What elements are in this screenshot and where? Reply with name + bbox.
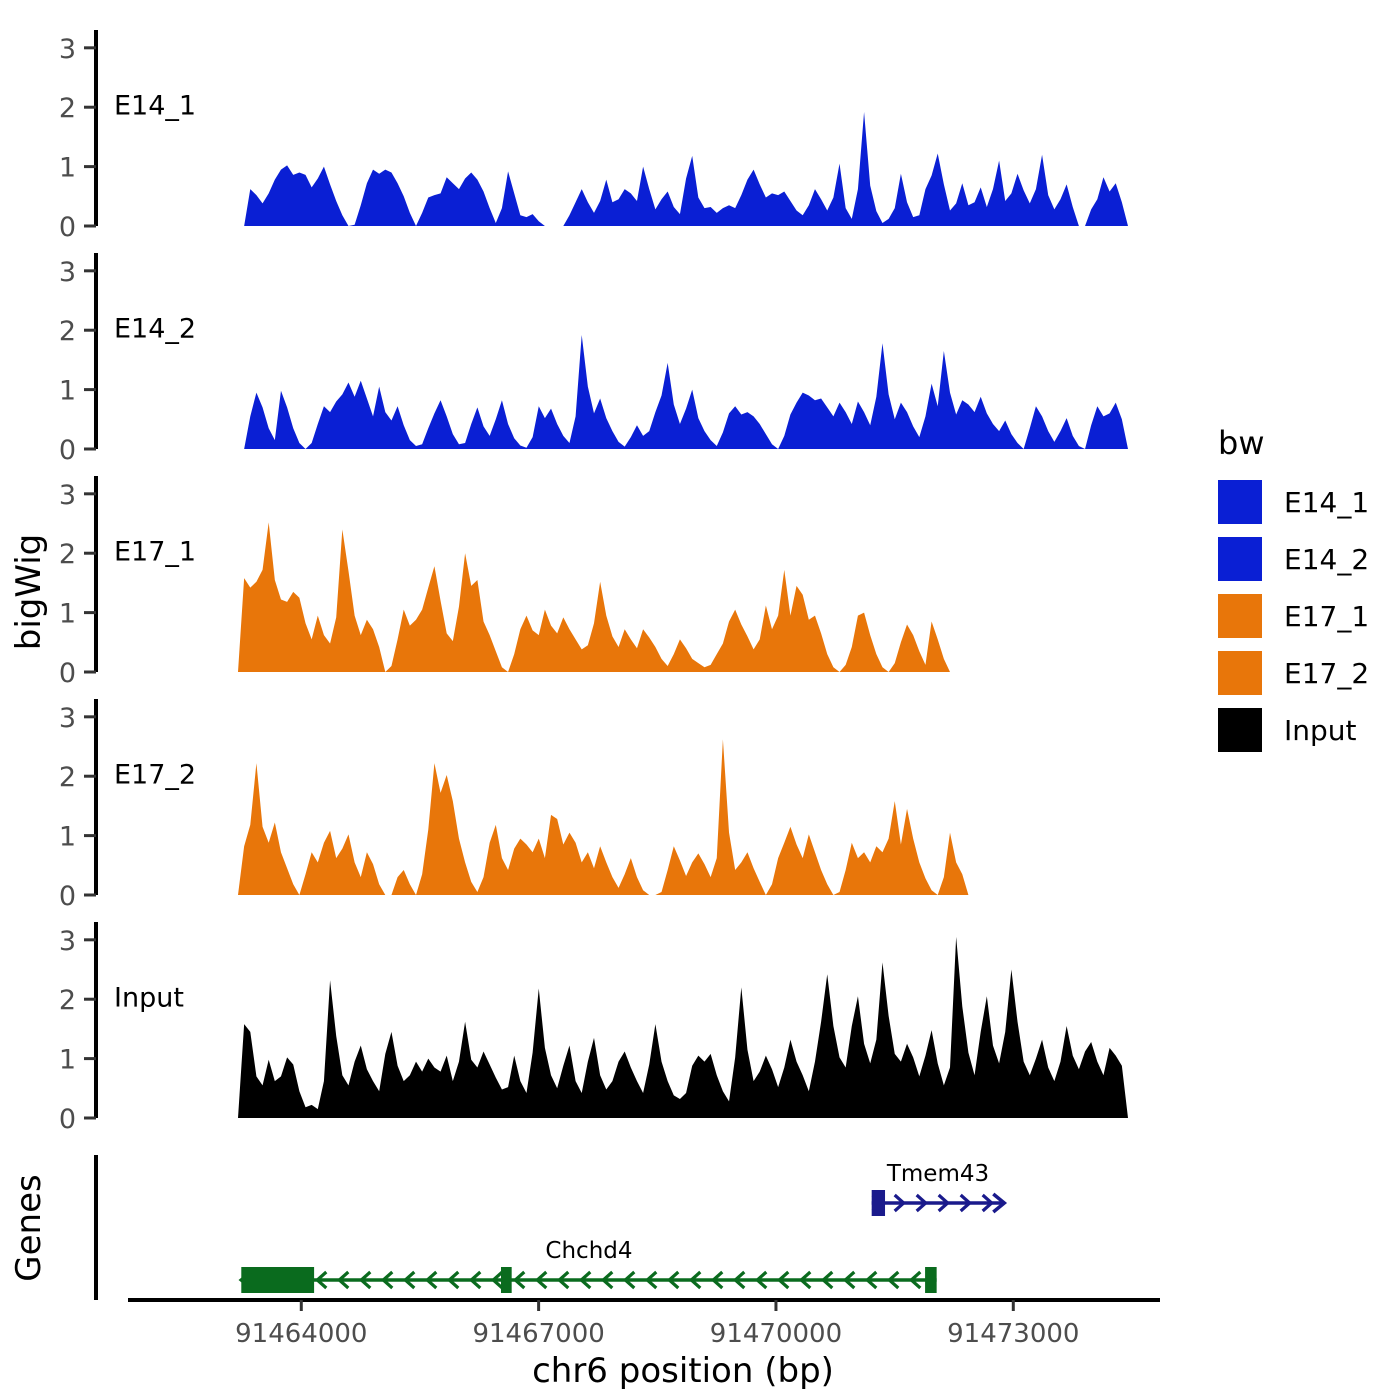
y-tick-label: 2 [59, 539, 76, 570]
y-tick-label: 0 [59, 881, 76, 912]
y-tick-label: 0 [59, 1104, 76, 1135]
y-tick-label: 1 [59, 599, 76, 630]
y-tick-label: 3 [59, 703, 76, 734]
exon-block [872, 1190, 885, 1216]
genes-axis-title: Genes [9, 1174, 49, 1281]
y-tick-label: 1 [59, 376, 76, 407]
track-label-e14_2: E14_2 [114, 313, 196, 344]
legend-swatch [1218, 708, 1262, 752]
y-tick-label: 0 [59, 435, 76, 466]
y-tick-label: 3 [59, 926, 76, 957]
exon-block [501, 1267, 512, 1293]
track-label-input: Input [114, 982, 184, 1013]
legend-item-e17_2[interactable]: E17_2 [1218, 651, 1369, 695]
legend-item-e14_1[interactable]: E14_1 [1218, 480, 1369, 524]
legend-label: E17_2 [1284, 657, 1369, 690]
legend-label: E14_1 [1284, 486, 1369, 519]
legend-swatch [1218, 537, 1262, 581]
y-tick-label: 3 [59, 34, 76, 65]
legend-label: E17_1 [1284, 600, 1369, 633]
y-tick-label: 2 [59, 985, 76, 1016]
y-axis-title: bigWig [9, 534, 49, 651]
y-tick-label: 1 [59, 153, 76, 184]
legend-label: E14_2 [1284, 543, 1369, 576]
legend-label: Input [1284, 714, 1357, 747]
y-tick-label: 1 [59, 822, 76, 853]
x-tick-label: 91470000 [710, 1319, 842, 1349]
legend-item-e17_1[interactable]: E17_1 [1218, 594, 1369, 638]
x-axis-title: chr6 position (bp) [532, 1351, 834, 1391]
y-tick-label: 1 [59, 1045, 76, 1076]
gene-label-tmem43: Tmem43 [886, 1161, 989, 1187]
x-tick-label: 91464000 [235, 1319, 367, 1349]
x-tick-label: 91473000 [947, 1319, 1079, 1349]
track-label-e17_2: E17_2 [114, 759, 196, 790]
track-label-e14_1: E14_1 [114, 90, 196, 121]
legend-swatch [1218, 594, 1262, 638]
figure-root: 0123E14_10123E14_20123E17_10123E17_20123… [0, 0, 1400, 1400]
exon-block [241, 1267, 314, 1293]
legend-item-input[interactable]: Input [1218, 708, 1357, 752]
legend-swatch [1218, 651, 1262, 695]
y-tick-label: 0 [59, 212, 76, 243]
genome-browser-figure: 0123E14_10123E14_20123E17_10123E17_20123… [0, 0, 1400, 1400]
y-tick-label: 2 [59, 316, 76, 347]
x-tick-label: 91467000 [472, 1319, 604, 1349]
track-label-e17_1: E17_1 [114, 536, 196, 567]
y-tick-label: 2 [59, 762, 76, 793]
legend-title: bw [1218, 424, 1264, 462]
y-tick-label: 0 [59, 658, 76, 689]
legend-swatch [1218, 480, 1262, 524]
y-tick-label: 3 [59, 480, 76, 511]
y-tick-label: 2 [59, 93, 76, 124]
gene-label-chchd4: Chchd4 [545, 1238, 632, 1264]
legend-item-e14_2[interactable]: E14_2 [1218, 537, 1369, 581]
exon-block [925, 1267, 937, 1293]
y-tick-label: 3 [59, 257, 76, 288]
